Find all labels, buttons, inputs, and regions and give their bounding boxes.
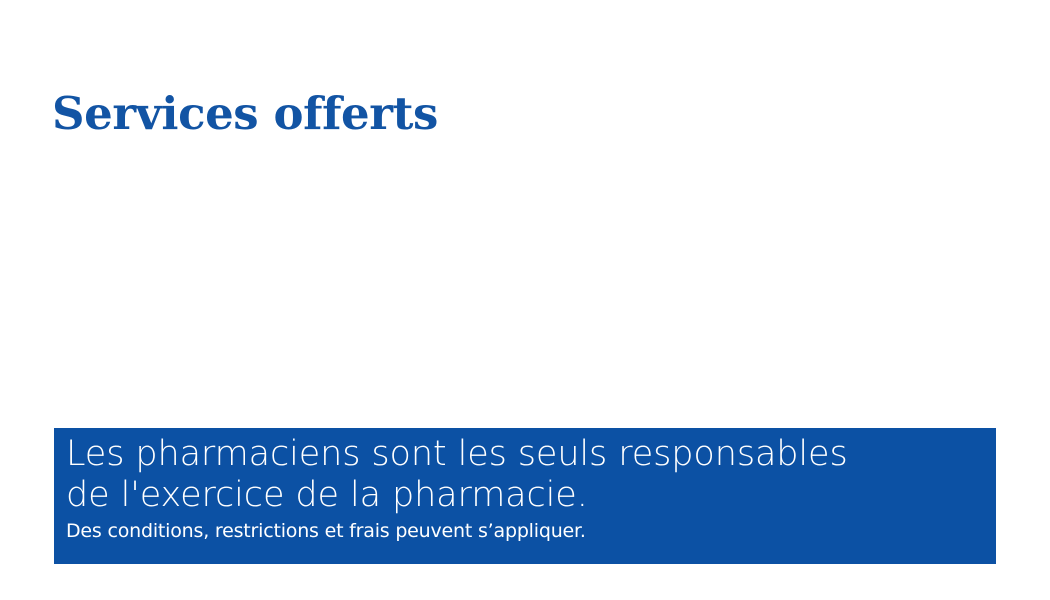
presentation-slide: Services offerts Les pharmaciens sont le… xyxy=(0,0,1050,600)
callout-heading: Les pharmaciens sont les seuls responsab… xyxy=(66,434,996,516)
callout-note: Des conditions, restrictions et frais pe… xyxy=(66,518,996,544)
page-title: Services offerts xyxy=(52,90,438,137)
callout-banner: Les pharmaciens sont les seuls responsab… xyxy=(54,428,996,564)
callout-heading-line-1: Les pharmaciens sont les seuls responsab… xyxy=(66,434,996,475)
slide-content-placeholder xyxy=(54,140,996,415)
callout-heading-line-2: de l'exercice de la pharmacie. xyxy=(66,475,996,516)
